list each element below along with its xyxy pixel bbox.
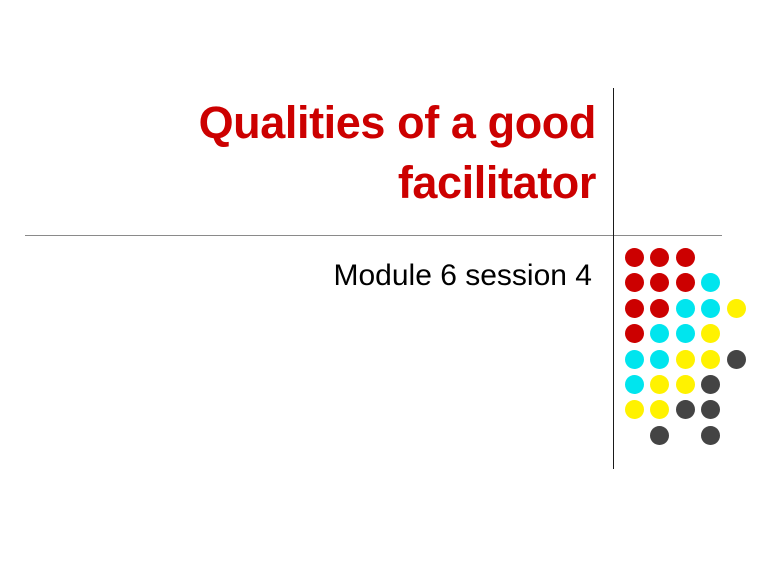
slide-title: Qualities of a good facilitator (60, 93, 596, 214)
dot-r-r1c2 (650, 248, 669, 267)
dot-c-r2c4 (701, 273, 720, 292)
dot-c-r4c2 (650, 324, 669, 343)
dot-g-r8c2 (650, 426, 669, 445)
dot-r-r3c1 (625, 299, 644, 318)
dot-g-r6c4 (701, 375, 720, 394)
dot-g-r7c4 (701, 400, 720, 419)
slide-canvas: Qualities of a good facilitator Module 6… (0, 0, 768, 576)
dot-c-r3c3 (676, 299, 695, 318)
dot-row (625, 273, 750, 298)
dot-c-r3c4 (701, 299, 720, 318)
dot-y-r4c4 (701, 324, 720, 343)
dot-g-r5c5 (727, 350, 746, 369)
dot-r-r1c3 (676, 248, 695, 267)
dot-r-r3c2 (650, 299, 669, 318)
horizontal-divider (25, 235, 722, 236)
dot-y-r5c3 (676, 350, 695, 369)
title-line-1: Qualities of a good (60, 93, 596, 153)
dot-r-r2c2 (650, 273, 669, 292)
dot-c-r4c3 (676, 324, 695, 343)
title-line-2: facilitator (60, 153, 596, 213)
slide-subtitle: Module 6 session 4 (60, 258, 592, 294)
dot-row (625, 350, 750, 375)
dot-c-r5c2 (650, 350, 669, 369)
dot-row (625, 375, 750, 400)
dot-row (625, 426, 750, 451)
dot-r-r2c3 (676, 273, 695, 292)
dot-c-r5c1 (625, 350, 644, 369)
dot-row (625, 324, 750, 349)
dot-y-r6c2 (650, 375, 669, 394)
vertical-divider (613, 88, 614, 469)
dot-c-r6c1 (625, 375, 644, 394)
dot-row (625, 248, 750, 273)
dot-y-r6c3 (676, 375, 695, 394)
dot-y-r3c5 (727, 299, 746, 318)
dot-g-r8c4 (701, 426, 720, 445)
dot-matrix-decoration (625, 248, 750, 438)
dot-r-r1c1 (625, 248, 644, 267)
dot-row (625, 299, 750, 324)
dot-g-r7c3 (676, 400, 695, 419)
dot-r-r4c1 (625, 324, 644, 343)
subtitle-text: Module 6 session 4 (334, 259, 593, 292)
dot-y-r7c1 (625, 400, 644, 419)
dot-r-r2c1 (625, 273, 644, 292)
dot-y-r5c4 (701, 350, 720, 369)
dot-y-r7c2 (650, 400, 669, 419)
dot-row (625, 400, 750, 425)
